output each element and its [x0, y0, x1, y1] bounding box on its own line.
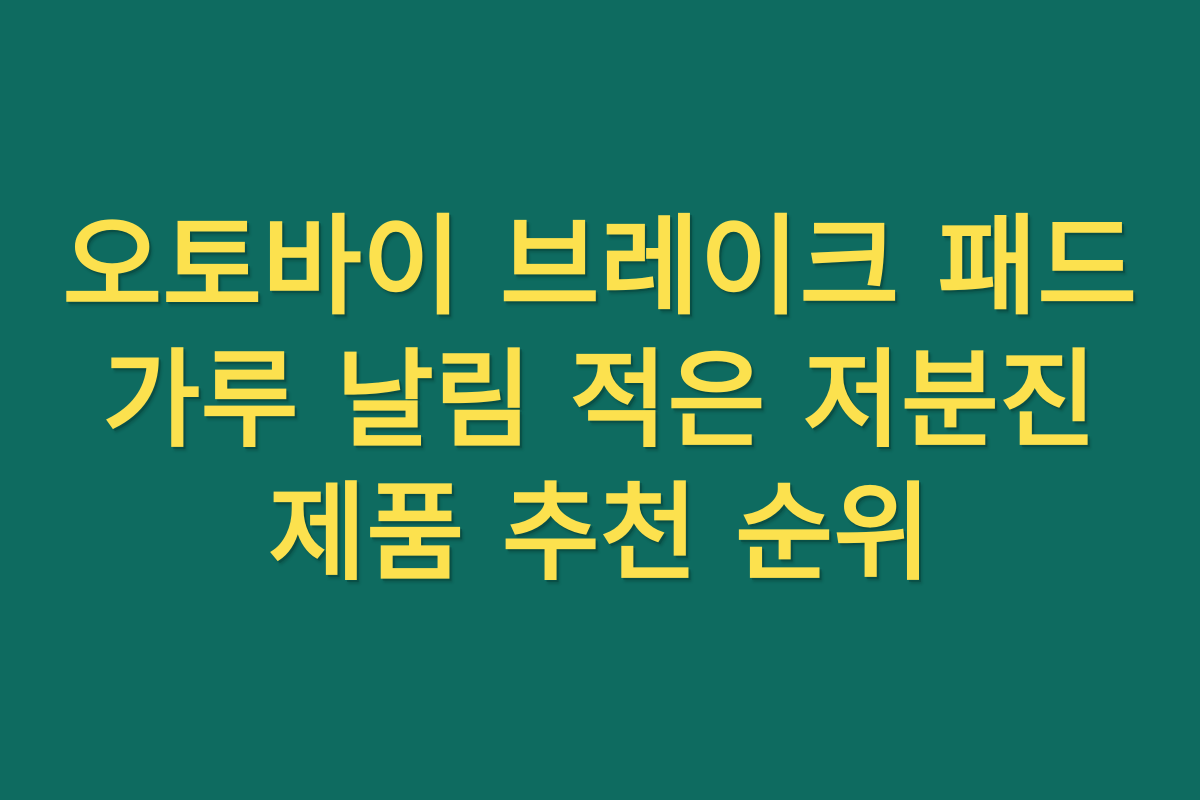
headline-line-3: 제품 추천 순위 [40, 467, 1160, 600]
headline-line-1: 오토바이 브레이크 패드 [40, 201, 1160, 334]
headline-block: 오토바이 브레이크 패드 가루 날림 적은 저분진 제품 추천 순위 [0, 201, 1200, 600]
headline-line-2: 가루 날림 적은 저분진 [40, 334, 1160, 467]
poster-canvas: 오토바이 브레이크 패드 가루 날림 적은 저분진 제품 추천 순위 [0, 0, 1200, 800]
